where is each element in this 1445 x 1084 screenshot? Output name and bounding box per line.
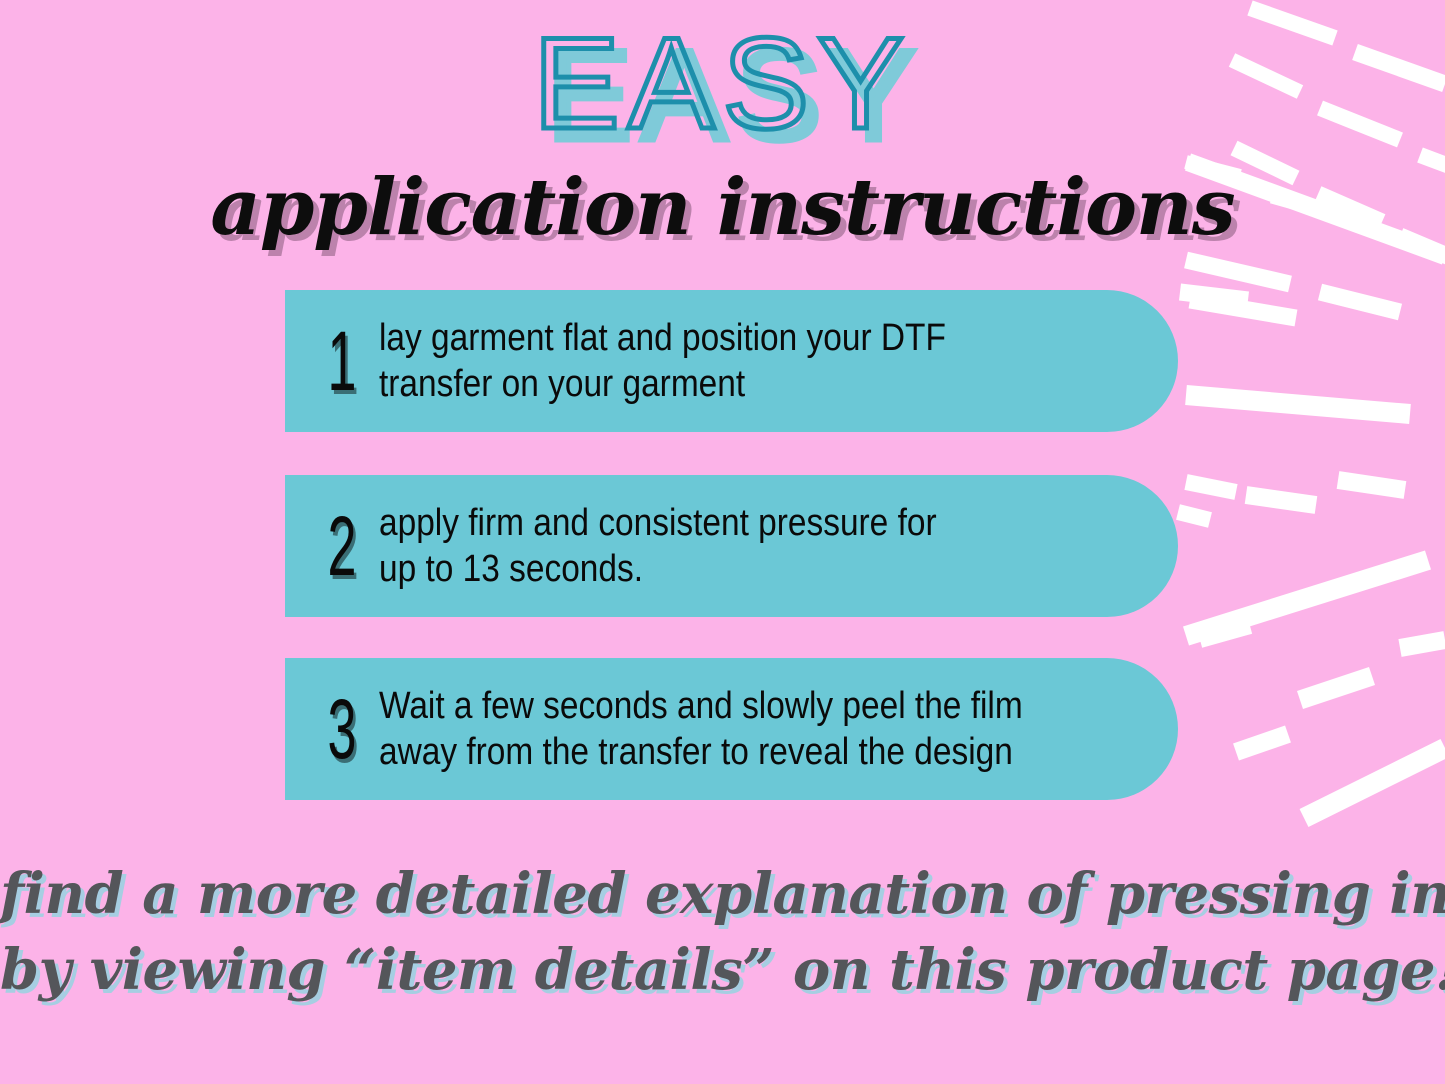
sunburst-ray-13: [1190, 300, 1296, 318]
sunburst-ray-12: [1320, 292, 1400, 312]
sunburst-ray-22: [1400, 640, 1445, 648]
sunburst-ray-21: [1186, 560, 1428, 636]
step-number-1: 1: [323, 319, 361, 403]
instruction-card: EASY EASY application instructions 1 lay…: [0, 0, 1445, 1084]
step-text-2: apply firm and consistent pressure for u…: [379, 500, 1082, 592]
step-item-3: 3 Wait a few seconds and slowly peel the…: [285, 658, 1178, 800]
footer-note-line-1: find a more detailed explanation of pres…: [0, 856, 1445, 932]
sunburst-ray-18: [1246, 495, 1316, 505]
sunburst-ray-20: [1178, 512, 1210, 520]
footer-note-line-2: by viewing “item details” on this produc…: [0, 932, 1445, 1008]
page-subtitle-script: application instructions: [0, 160, 1445, 256]
sunburst-ray-24: [1236, 734, 1288, 752]
sunburst-ray-11: [1186, 260, 1290, 284]
step-number-3: 3: [323, 687, 361, 771]
sunburst-ray-19: [1338, 480, 1405, 490]
sunburst-ray-25: [1304, 748, 1445, 818]
easy-title-wrap: EASY EASY: [0, 8, 1445, 168]
step-text-3: Wait a few seconds and slowly peel the f…: [379, 683, 1082, 775]
step-text-1: lay garment flat and position your DTF t…: [379, 315, 1082, 407]
sunburst-ray-26: [1200, 626, 1250, 640]
step-item-1: 1 lay garment flat and position your DTF…: [285, 290, 1178, 432]
sunburst-ray-23: [1300, 676, 1372, 700]
sunburst-ray-15: [1186, 395, 1410, 414]
page-title-easy: EASY: [0, 8, 1445, 158]
footer-note: find a more detailed explanation of pres…: [0, 856, 1445, 1008]
step-number-2: 2: [323, 504, 361, 588]
sunburst-ray-16: [1180, 292, 1248, 300]
sunburst-ray-17: [1186, 482, 1236, 492]
step-item-2: 2 apply firm and consistent pressure for…: [285, 475, 1178, 617]
